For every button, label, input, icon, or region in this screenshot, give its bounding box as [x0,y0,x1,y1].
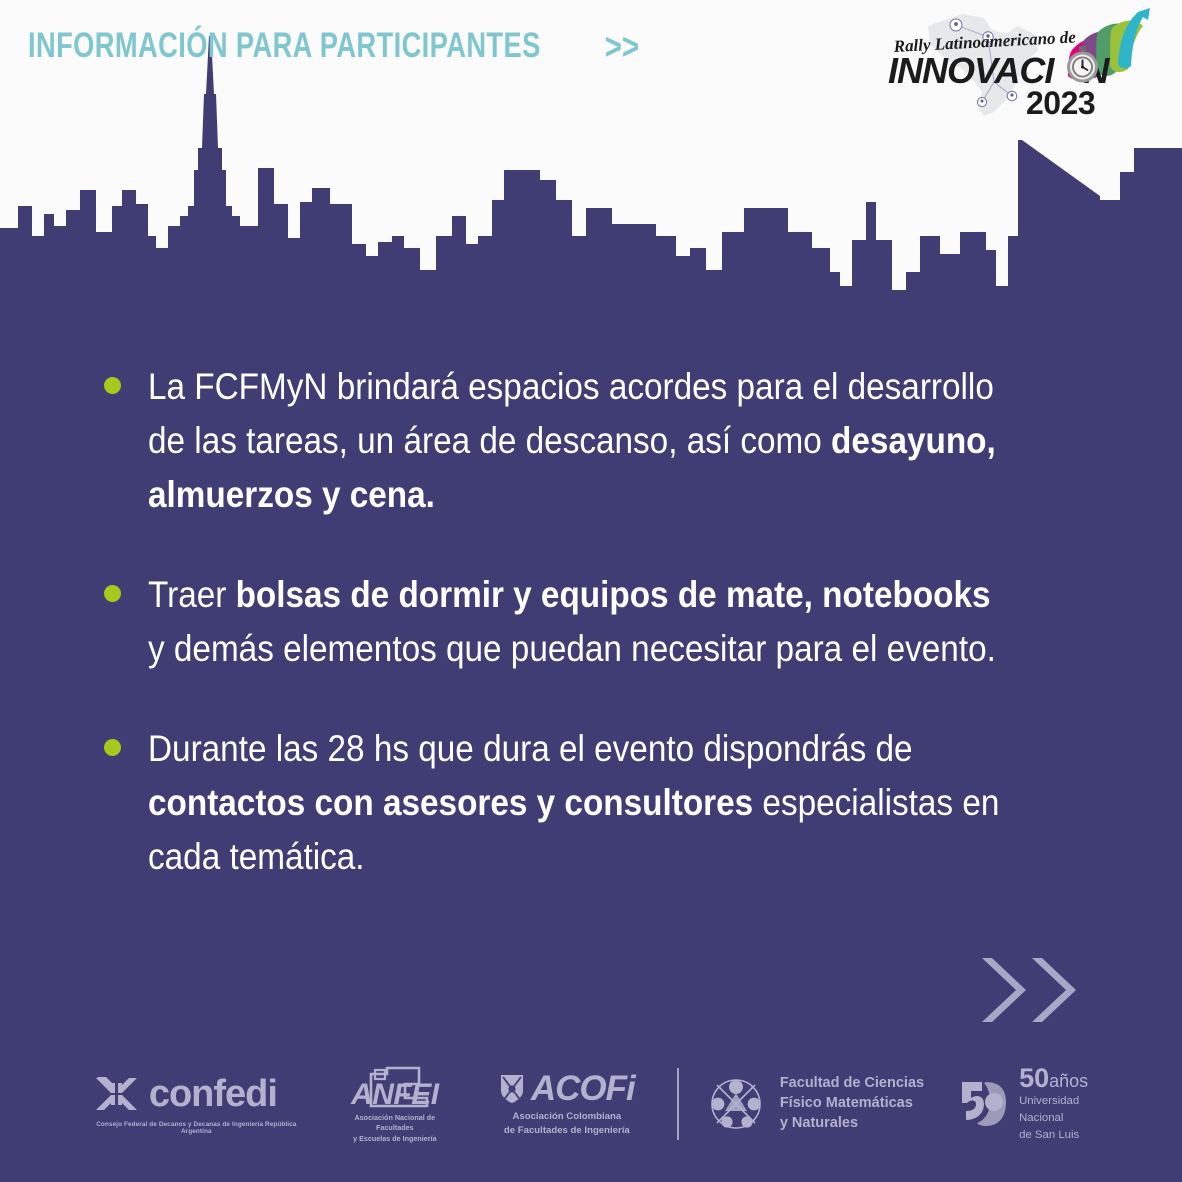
anfei-wordmark: ANFEI [335,1078,455,1112]
list-item: Traer bolsas de dormir y equipos de mate… [104,568,1094,676]
footer-logo-bar: confedi Consejo Federal de Decanos y Dec… [0,1054,1182,1154]
acofi-wordmark: ACOFi [531,1071,635,1106]
fcfmyn-atom-icon [705,1073,767,1135]
footer-divider [677,1068,679,1140]
list-item: Durante las 28 hs que dura el evento dis… [104,722,1094,884]
logo-unsl: 50años Universidad Nacional de San Luis [958,1065,1088,1144]
confedi-wordmark: confedi [149,1075,277,1113]
list-item: La FCFMyN brindará espacios acordes para… [104,360,1094,522]
unsl-tagline-1: Universidad [1019,1094,1088,1109]
green-dot-icon [104,585,121,602]
header-chevron-icon: >> [605,28,640,65]
unsl-years: 50años [1019,1065,1088,1092]
logo-acofi: ACOFi Asociación Colombiana de Facultade… [483,1071,651,1136]
anfei-tagline-2: y Escuelas de Ingeniería [335,1134,455,1144]
poster-canvas: INFORMACIÓN PARA PARTICIPANTES >> [0,0,1182,1182]
confedi-arrows-icon [94,1074,140,1114]
logo-fcfmyn: Facultad de Ciencias Físico Matemáticas … [705,1073,924,1135]
green-dot-icon [104,739,121,756]
page-title: INFORMACIÓN PARA PARTICIPANTES [28,26,541,66]
green-dot-icon [104,377,121,394]
anfei-tagline-1: Asociación Nacional de Facultades [335,1113,455,1134]
confedi-tagline: Consejo Federal de Decanos y Decanas de … [94,1121,299,1135]
rally-innovacion-logo: Rally Latinoamericano de INNOVACIN 2023 [866,4,1166,120]
unsl-years-number: 50 [1019,1063,1049,1093]
page-header: INFORMACIÓN PARA PARTICIPANTES >> [28,26,743,66]
fcfmyn-tagline-3: y Naturales [780,1114,924,1134]
bullet-list: La FCFMyN brindará espacios acordes para… [104,360,1094,884]
unsl-years-word: años [1049,1071,1088,1091]
fcfmyn-tagline-1: Facultad de Ciencias [780,1074,924,1094]
logo-confedi: confedi Consejo Federal de Decanos y Dec… [94,1074,299,1135]
acofi-tagline-2: de Facultades de Ingeniería [483,1124,651,1137]
decorative-chevron-icon [976,950,1086,1030]
unsl-50-mark-icon [958,1076,1010,1132]
unsl-tagline-2: Nacional [1019,1111,1088,1126]
acofi-tagline-1: Asociación Colombiana [483,1110,651,1123]
logo-year: 2023 [1026,85,1095,120]
logo-anfei: ANFEI Asociación Nacional de Facultades … [335,1064,455,1144]
bullet-text-3: Durante las 28 hs que dura el evento dis… [148,722,999,884]
unsl-tagline-3: de San Luis [1019,1128,1088,1143]
bullet-text-2: Traer bolsas de dormir y equipos de mate… [148,568,999,676]
acofi-shield-icon [499,1073,525,1105]
fcfmyn-tagline-2: Físico Matemáticas [780,1094,924,1114]
bullet-text-1: La FCFMyN brindará espacios acordes para… [148,360,999,522]
